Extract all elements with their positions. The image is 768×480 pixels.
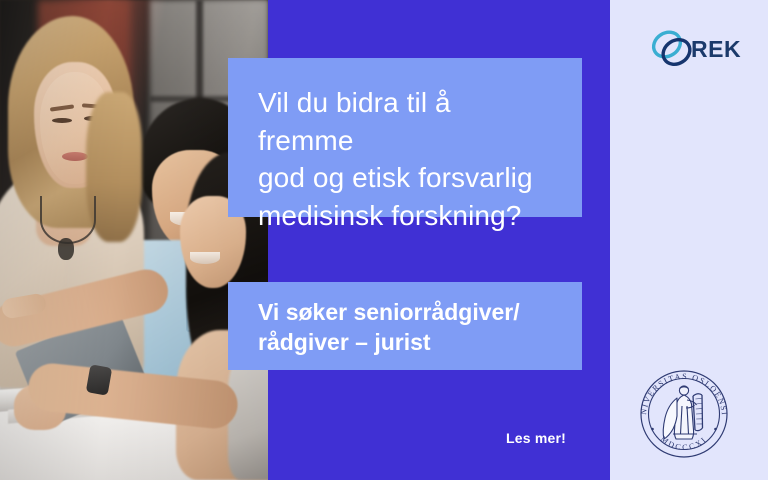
- headline-line-3: medisinsk forskning?: [258, 200, 521, 231]
- headline-box: Vil du bidra til å fremmegod og etisk fo…: [228, 58, 582, 217]
- rek-logo[interactable]: REK: [650, 26, 740, 72]
- headline-line-1: Vil du bidra til å fremme: [258, 87, 451, 156]
- uio-seal: UNIVERSITAS OSLOENSIS MDCCCXI: [632, 362, 736, 466]
- headline-line-2: god og etisk forsvarlig: [258, 162, 533, 193]
- recruitment-banner: REK: [0, 0, 768, 480]
- uio-apollo-seal-icon: UNIVERSITAS OSLOENSIS MDCCCXI: [632, 362, 736, 466]
- rek-wordmark: REK: [691, 38, 741, 61]
- rek-interlocking-rings-icon: [650, 27, 696, 71]
- read-more-link[interactable]: Les mer!: [506, 430, 566, 446]
- job-title-line-2: rådgiver – jurist: [258, 329, 431, 355]
- job-title-text: Vi søker seniorrådgiver/rådgiver – juris…: [258, 298, 552, 358]
- headline-text: Vil du bidra til å fremmegod og etisk fo…: [258, 84, 552, 234]
- job-title-line-1: Vi søker seniorrådgiver/: [258, 299, 520, 325]
- job-title-box: Vi søker seniorrådgiver/rådgiver – juris…: [228, 282, 582, 370]
